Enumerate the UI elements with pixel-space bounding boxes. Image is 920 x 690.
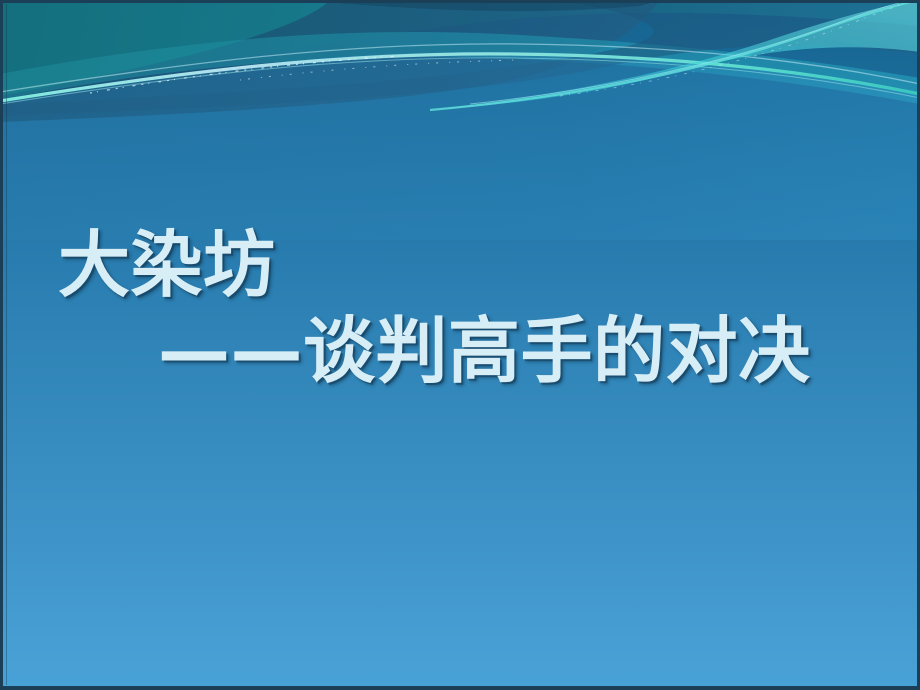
slide-title-block: 大染坊 ——谈判高手的对决 (0, 222, 920, 394)
wave-ribbon-graphic (0, 0, 920, 240)
presentation-slide: 大染坊 ——谈判高手的对决 (0, 0, 920, 690)
title-line-primary: 大染坊 (0, 222, 920, 308)
title-line-subtitle: ——谈判高手的对决 (0, 308, 920, 394)
